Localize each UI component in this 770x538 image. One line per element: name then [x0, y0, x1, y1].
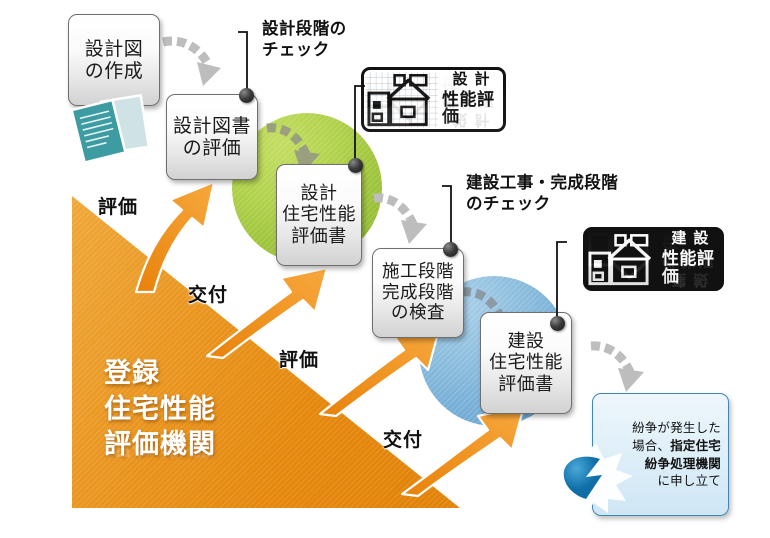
- step-design-housing-performance-certificate[interactable]: 設計 住宅性能 評価書: [276, 164, 362, 266]
- step-label: 施工段階 完成段階 の検査: [382, 262, 454, 324]
- leader-line-design-seal: [341, 82, 367, 168]
- seal-top-text: 建設: [664, 231, 715, 247]
- flow-label-issuance-construction: 交付: [383, 425, 423, 452]
- leader-dot-construction-seal: [550, 316, 565, 331]
- diagram-canvas: 評価機関 登録 住宅性能 評価機関: [0, 0, 770, 538]
- gray-arrow-1: [159, 28, 225, 92]
- dispute-burst-icon: [556, 443, 634, 515]
- seal-bottom-text: 性能評価: [662, 251, 718, 287]
- blueprint-documents-icon: [68, 94, 160, 168]
- step-label: 設計図書 の評価: [173, 115, 251, 160]
- dispute-line-2: 場合、指定住宅: [632, 437, 721, 455]
- dispute-line-3: 紛争処理機関: [632, 455, 721, 473]
- dispute-line-2-plain: 場合、: [632, 438, 670, 453]
- step-label: 設計 住宅性能 評価書: [282, 183, 356, 247]
- leader-line-construction-seal: [543, 238, 569, 326]
- seal-bottom-text: 性能評価: [442, 92, 500, 128]
- dispute-line-2-bold: 指定住宅: [670, 438, 721, 453]
- seal-text: 建設 性能評価: [659, 230, 721, 288]
- seal-top-text: 設計: [446, 72, 497, 88]
- design-performance-seal: 設計 性能評価 設計 性能評価: [361, 67, 506, 132]
- house-building-icon: [586, 230, 659, 288]
- blueprint-house-icon: [364, 70, 439, 129]
- gray-arrow-3: [371, 188, 431, 250]
- annotation-design-stage-check: 設計段階の チェック: [262, 18, 347, 60]
- seal-body: 建設 性能評価: [583, 227, 724, 291]
- gray-arrow-5: [588, 338, 650, 400]
- seal-text: 設計 性能評価: [439, 70, 503, 129]
- construction-performance-seal: 建設 性能評価 建設 性能評価: [583, 227, 724, 291]
- annotation-construction-completion-check: 建設工事・完成段階 のチェック: [466, 172, 618, 214]
- dispute-line-1: 紛争が発生した: [632, 419, 721, 437]
- leader-dot-design-seal: [348, 158, 363, 173]
- seal-body: 設計 性能評価: [361, 67, 506, 132]
- dispute-line-3-bold: 紛争処理機関: [645, 456, 721, 471]
- flow-label-issuance-design: 交付: [188, 280, 228, 307]
- flow-label-evaluation-design: 評価: [98, 192, 138, 219]
- step-label: 建設 住宅性能 評価書: [489, 331, 563, 395]
- step-design-drawing-creation[interactable]: 設計図 の作成: [68, 14, 160, 106]
- step-design-document-evaluation[interactable]: 設計図書 の評価: [166, 94, 258, 180]
- flow-label-evaluation-construction: 評価: [279, 345, 319, 372]
- leader-dot-design-stage-check: [239, 88, 254, 103]
- step-label: 設計図 の作成: [85, 38, 144, 83]
- dispute-text: 紛争が発生した 場合、指定住宅 紛争処理機関 に申し立て: [632, 419, 721, 490]
- dispute-line-4: に申し立て: [632, 472, 721, 490]
- leader-dot-construction-completion-check: [443, 242, 458, 257]
- triangle-label: 登録 住宅性能 評価機関: [104, 356, 216, 463]
- step-construction-completion-inspection[interactable]: 施工段階 完成段階 の検査: [372, 248, 464, 338]
